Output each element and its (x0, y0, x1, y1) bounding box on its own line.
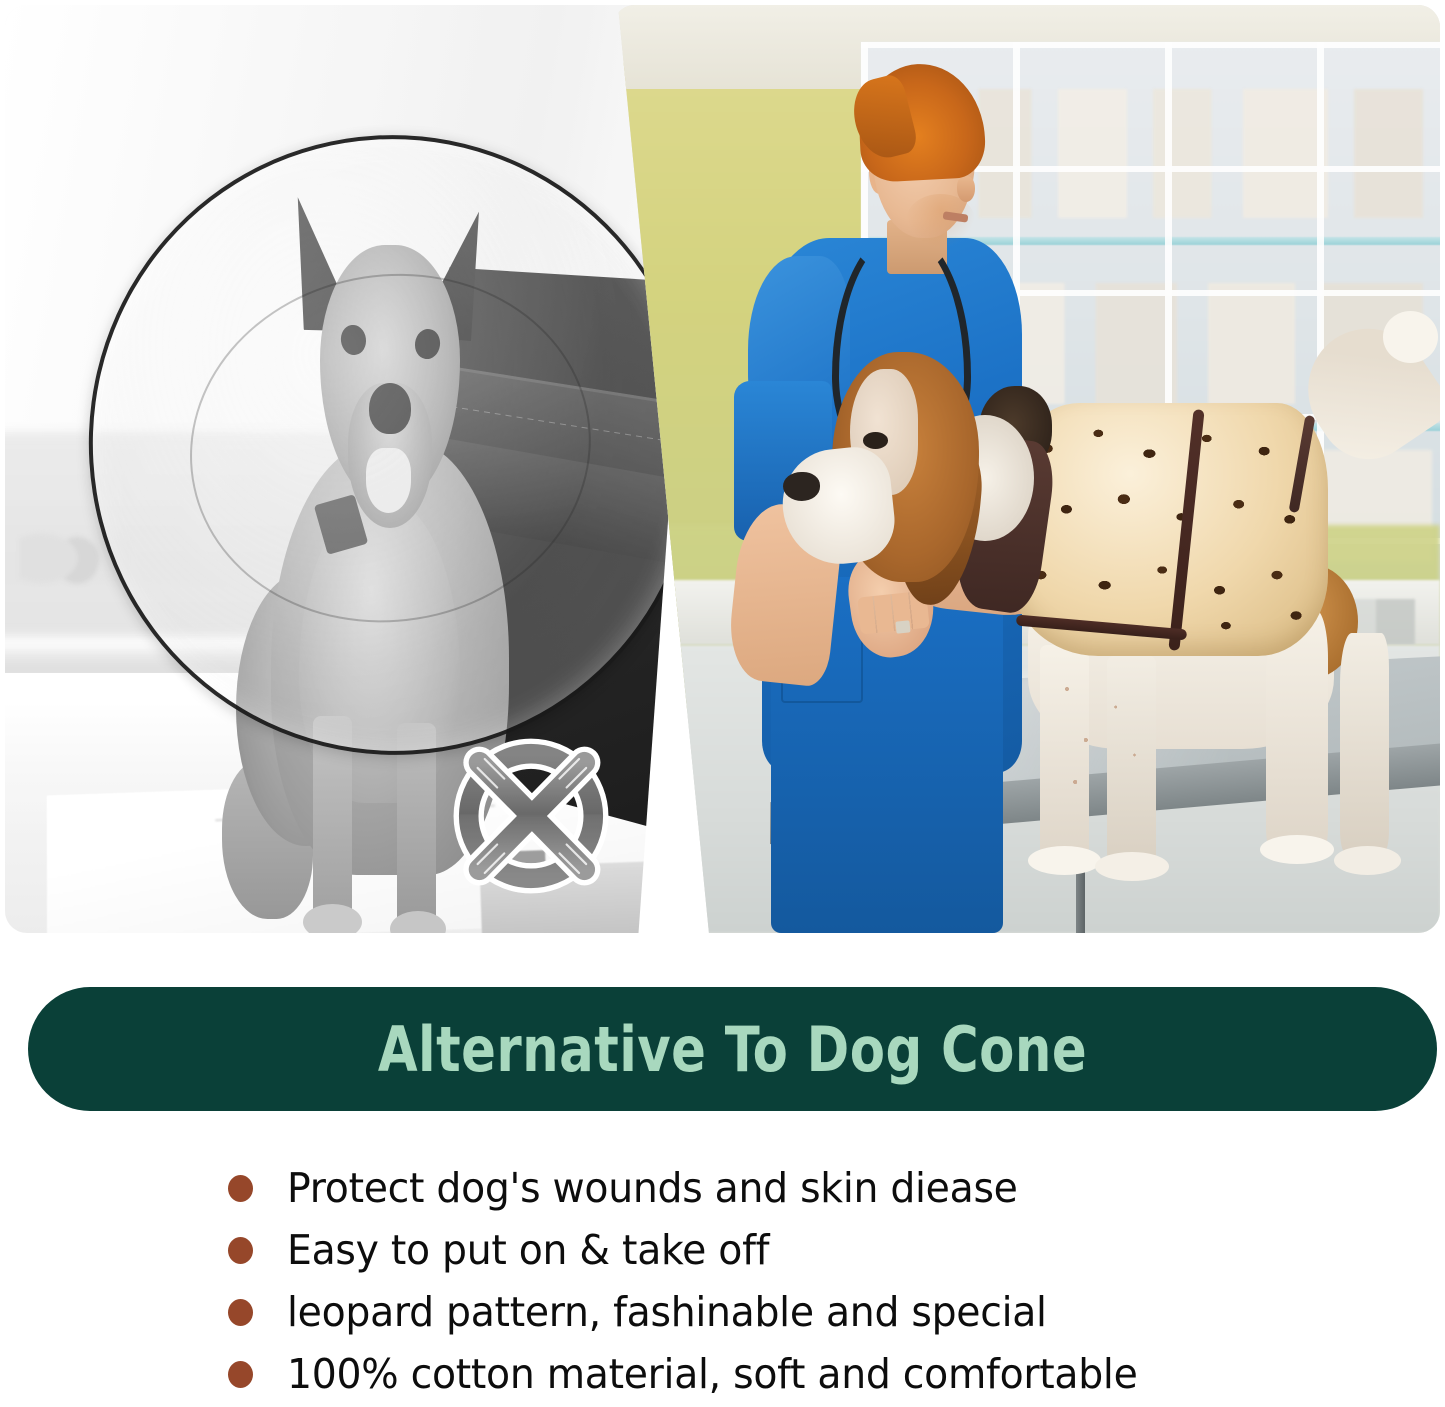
beagle-paw-3 (1260, 835, 1333, 864)
page-title: Alternative To Dog Cone (84, 987, 1380, 1111)
cone-inner-rim (165, 245, 616, 650)
bullet-dot-icon (228, 1299, 253, 1326)
vet-nose (957, 176, 976, 203)
bullet-dot-icon (228, 1175, 253, 1202)
beagle-nose (783, 472, 820, 501)
beagle-rear-leg-2 (1340, 633, 1389, 852)
bullet-dot-icon (228, 1237, 253, 1264)
comparison-photo-block (0, 0, 1445, 960)
feature-text: 100% cotton material, soft and comfortab… (287, 1353, 1138, 1396)
beagle-tail-tip (1383, 311, 1438, 363)
beagle-paw-1 (1028, 846, 1101, 875)
bullet-dot-icon (228, 1361, 253, 1388)
list-item: 100% cotton material, soft and comfortab… (228, 1344, 1438, 1405)
good-option-recovery-suit-photo (613, 5, 1440, 933)
red-x-badge (442, 727, 620, 905)
feature-text: Easy to put on & take off (287, 1229, 769, 1272)
beagle-paw-2 (1095, 852, 1168, 881)
beagle-paw-4 (1334, 846, 1401, 875)
banner: Alternative To Dog Cone (28, 987, 1437, 1111)
list-item: leopard pattern, fashinable and special (228, 1282, 1438, 1343)
list-item: Protect dog's wounds and skin diease (228, 1158, 1438, 1219)
beagle-dog (820, 311, 1432, 886)
feature-text: leopard pattern, fashinable and special (287, 1291, 1047, 1334)
feature-list: Protect dog's wounds and skin diease Eas… (228, 1158, 1438, 1406)
bad-option-cone-photo (5, 5, 705, 933)
dog-paw-left (303, 904, 363, 933)
feature-text: Protect dog's wounds and skin diease (287, 1167, 1018, 1210)
beagle-skin-spots (1040, 668, 1175, 818)
list-item: Easy to put on & take off (228, 1220, 1438, 1281)
